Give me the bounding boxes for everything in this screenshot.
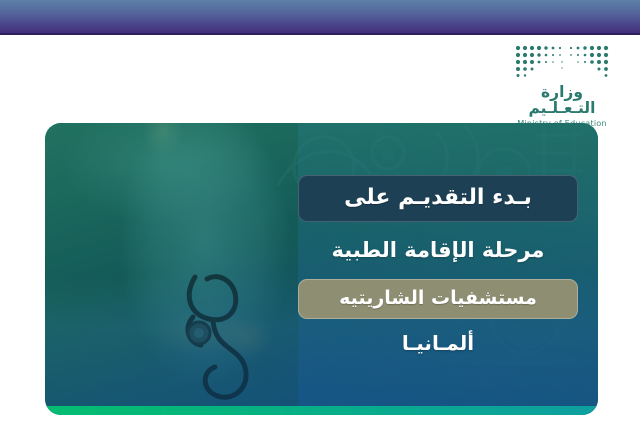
country-germany: ألمـانيـا — [298, 331, 578, 355]
banner-text-stack: بـدء التقديـم على مرحلة الإقامة الطبية م… — [298, 175, 578, 355]
ministry-of-education-logo: وزارة التـعـلـيم Ministry of Education — [506, 44, 618, 128]
headline-start-application: بـدء التقديـم على — [298, 175, 578, 222]
moe-dotted-emblem-icon — [513, 44, 611, 80]
page-header: وزارة التـعـلـيم Ministry of Education — [0, 35, 640, 123]
bottom-accent-bar — [45, 406, 598, 415]
logo-arabic-label: وزارة التـعـلـيم — [506, 84, 618, 117]
announcement-banner: بـدء التقديـم على مرحلة الإقامة الطبية م… — [45, 123, 598, 415]
subtitle-residency-stage: مرحلة الإقامة الطبية — [298, 238, 578, 262]
decorative-top-bar — [0, 0, 640, 35]
hospital-name-charite: مستشفيات الشاريتيه — [298, 279, 578, 319]
